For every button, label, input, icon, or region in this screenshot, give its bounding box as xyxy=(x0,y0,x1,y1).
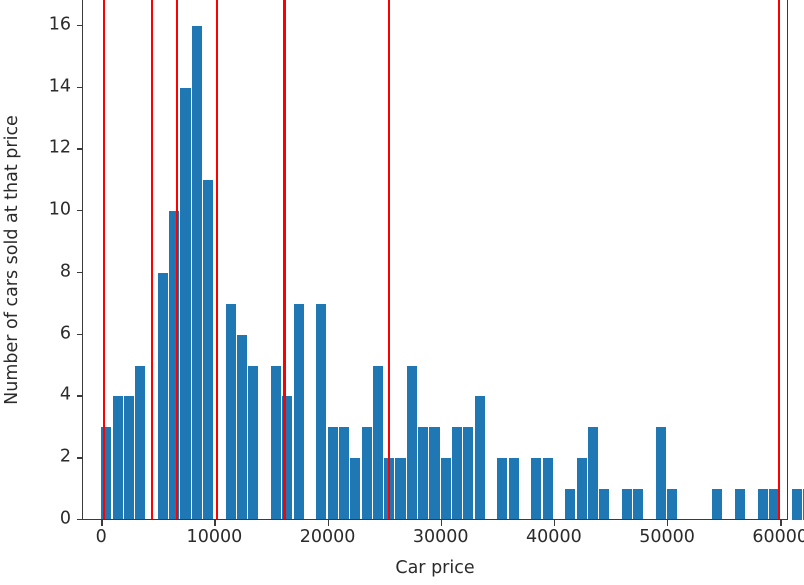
x-tick-mark xyxy=(214,520,215,526)
x-tick-label: 60000 xyxy=(752,529,804,547)
y-tick-label: 6 xyxy=(60,325,71,343)
histogram-bar xyxy=(509,458,519,520)
histogram-bar xyxy=(577,458,587,520)
y-axis-label: Number of cars sold at that price xyxy=(2,115,22,405)
axis-spine-bottom xyxy=(82,519,788,520)
cluster-boundary-line xyxy=(151,0,153,520)
x-tick-mark xyxy=(780,520,781,526)
histogram-bar xyxy=(497,458,507,520)
cluster-boundary-line xyxy=(216,0,218,520)
histogram-bar xyxy=(656,427,666,520)
cluster-boundary-line xyxy=(176,0,178,520)
y-tick-label: 16 xyxy=(49,16,71,34)
histogram-bar xyxy=(622,489,632,520)
axis-spine-right xyxy=(787,0,788,520)
y-tick-label: 4 xyxy=(60,387,71,405)
histogram-bar xyxy=(633,489,643,520)
histogram-bar xyxy=(418,427,428,520)
x-tick-label: 40000 xyxy=(526,529,582,547)
y-tick-label: 2 xyxy=(60,448,71,466)
histogram-bar xyxy=(339,427,349,520)
histogram-bar xyxy=(758,489,768,520)
histogram-bar xyxy=(588,427,598,520)
x-tick-label: 20000 xyxy=(300,529,356,547)
histogram-bar xyxy=(395,458,405,520)
histogram-figure: 0246810121416 Number of cars sold at tha… xyxy=(0,0,804,585)
x-tick-mark xyxy=(441,520,442,526)
histogram-bar xyxy=(599,489,609,520)
histogram-bar xyxy=(463,427,473,520)
x-axis-label: Car price xyxy=(395,558,474,578)
histogram-bar xyxy=(429,427,439,520)
cluster-boundary-line xyxy=(103,0,105,520)
cluster-boundary-line xyxy=(388,0,390,520)
y-tick-label: 0 xyxy=(60,510,71,528)
x-tick-mark xyxy=(328,520,329,526)
y-tick-label: 14 xyxy=(49,78,71,96)
cluster-boundary-line xyxy=(778,0,780,520)
histogram-bar xyxy=(226,304,236,520)
histogram-bar xyxy=(158,273,168,520)
histogram-bar xyxy=(407,366,417,520)
histogram-bar xyxy=(192,26,202,520)
histogram-bar xyxy=(362,427,372,520)
x-tick-label: 30000 xyxy=(413,529,469,547)
x-tick-mark xyxy=(554,520,555,526)
histogram-bar xyxy=(316,304,326,520)
histogram-bar xyxy=(113,396,123,520)
histogram-bar xyxy=(712,489,722,520)
cluster-boundary-line xyxy=(283,0,285,520)
x-tick-label: 10000 xyxy=(187,529,243,547)
histogram-bar xyxy=(667,489,677,520)
y-tick-label: 10 xyxy=(49,201,71,219)
histogram-bar xyxy=(475,396,485,520)
histogram-bar xyxy=(271,366,281,520)
histogram-bar xyxy=(180,88,190,521)
histogram-bar xyxy=(203,180,213,520)
histogram-bar xyxy=(531,458,541,520)
y-tick-label: 12 xyxy=(49,140,71,158)
histogram-bar xyxy=(543,458,553,520)
histogram-bar xyxy=(294,304,304,520)
histogram-bar xyxy=(350,458,360,520)
y-tick-label: 8 xyxy=(60,263,71,281)
histogram-bar xyxy=(248,366,258,520)
histogram-bar xyxy=(135,366,145,520)
x-tick-label: 0 xyxy=(96,529,107,547)
histogram-bar xyxy=(328,427,338,520)
histogram-bar xyxy=(237,335,247,520)
x-tick-label: 50000 xyxy=(639,529,695,547)
histogram-bar xyxy=(452,427,462,520)
histogram-bar xyxy=(124,396,134,520)
histogram-bar xyxy=(373,366,383,520)
x-tick-mark xyxy=(667,520,668,526)
axis-spine-left xyxy=(82,0,83,520)
histogram-bar xyxy=(441,458,451,520)
histogram-bar xyxy=(735,489,745,520)
plot-area xyxy=(82,0,787,520)
x-tick-mark xyxy=(101,520,102,526)
histogram-bar xyxy=(565,489,575,520)
histogram-bar xyxy=(792,489,802,520)
